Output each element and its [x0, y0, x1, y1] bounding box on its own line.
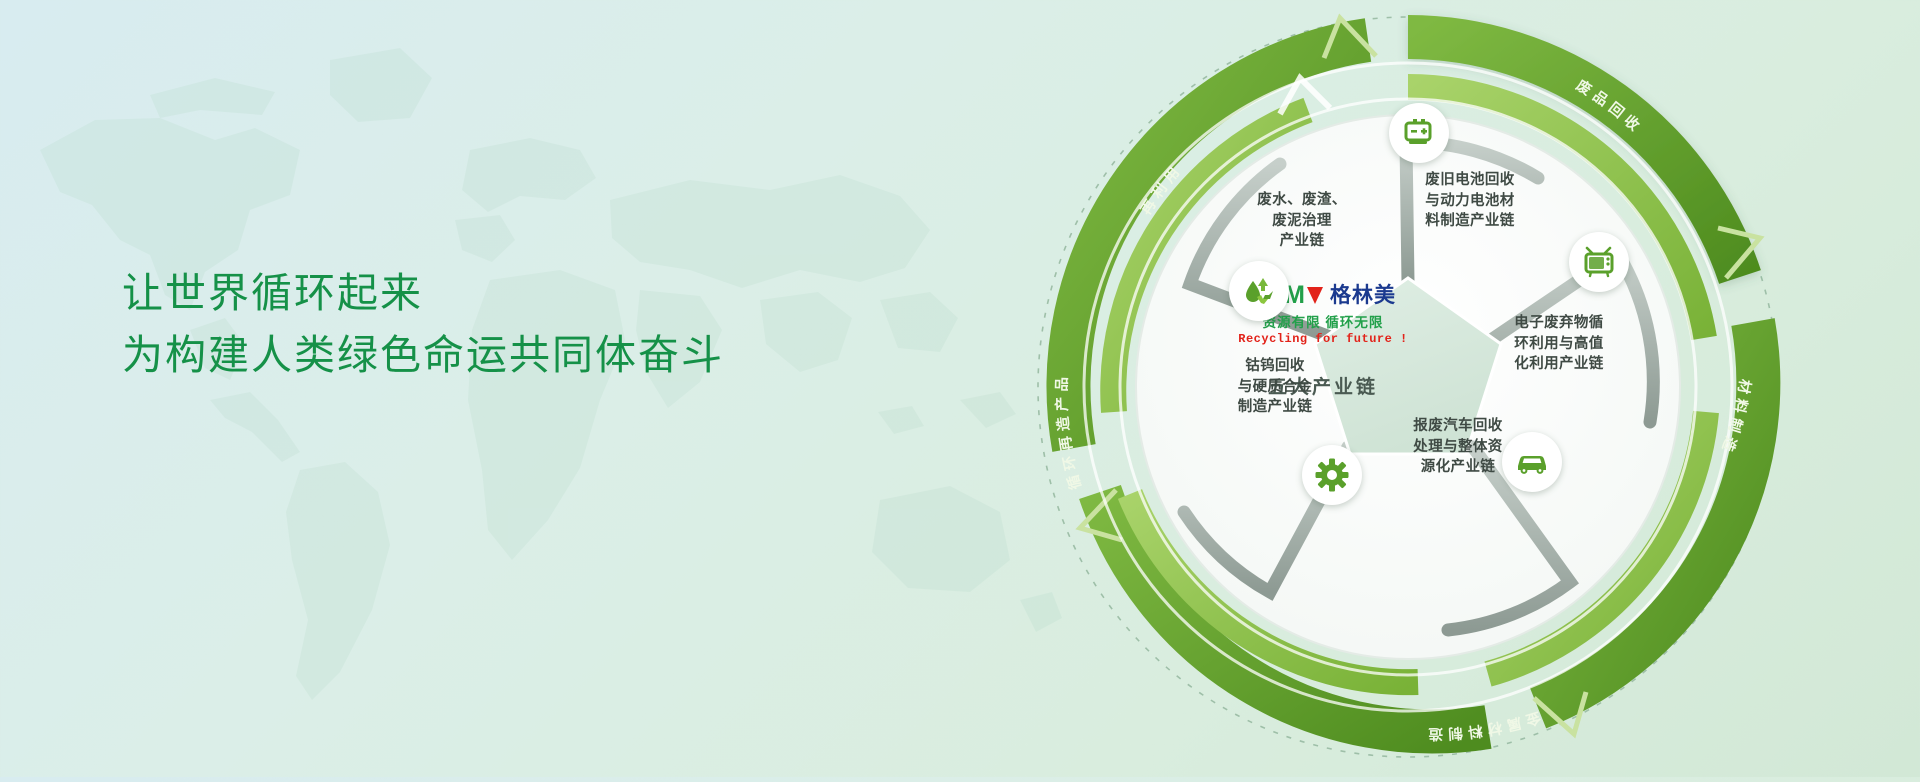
page-headline: 让世界循环起来 为构建人类绿色命运共同体奋斗 [122, 262, 724, 387]
segment-label-wastewater: 废水、废渣、 废泥治理 产业链 [1232, 190, 1372, 252]
brand-slogan-en: Recycling for future ! [1228, 332, 1418, 346]
segment-label-ewaste: 电子废弃物循 环利用与高值 化利用产业链 [1489, 313, 1629, 375]
brand-name-cn: 格林美 [1330, 285, 1396, 306]
television-icon-bubble[interactable] [1569, 232, 1629, 292]
recycle-water-icon [1241, 273, 1277, 309]
battery-icon [1402, 116, 1436, 150]
segment-label-cobalt: 钴钨回收 与硬质合金 制造产业链 [1205, 356, 1345, 418]
gear-icon [1314, 457, 1350, 493]
television-icon [1582, 245, 1616, 279]
world-map-background [0, 0, 1100, 777]
five-industry-chain-diagram [1018, 0, 1918, 782]
brand-triangle-icon [1307, 287, 1323, 304]
gear-icon-bubble[interactable] [1302, 445, 1362, 505]
battery-icon-bubble[interactable] [1389, 103, 1449, 163]
car-icon [1514, 444, 1550, 480]
headline-line-2: 为构建人类绿色命运共同体奋斗 [122, 324, 724, 386]
headline-line-1: 让世界循环起来 [122, 262, 724, 324]
recycle-water-icon-bubble[interactable] [1229, 261, 1289, 321]
segment-label-battery: 废旧电池回收 与动力电池材 料制造产业链 [1400, 170, 1540, 232]
car-icon-bubble[interactable] [1502, 432, 1562, 492]
